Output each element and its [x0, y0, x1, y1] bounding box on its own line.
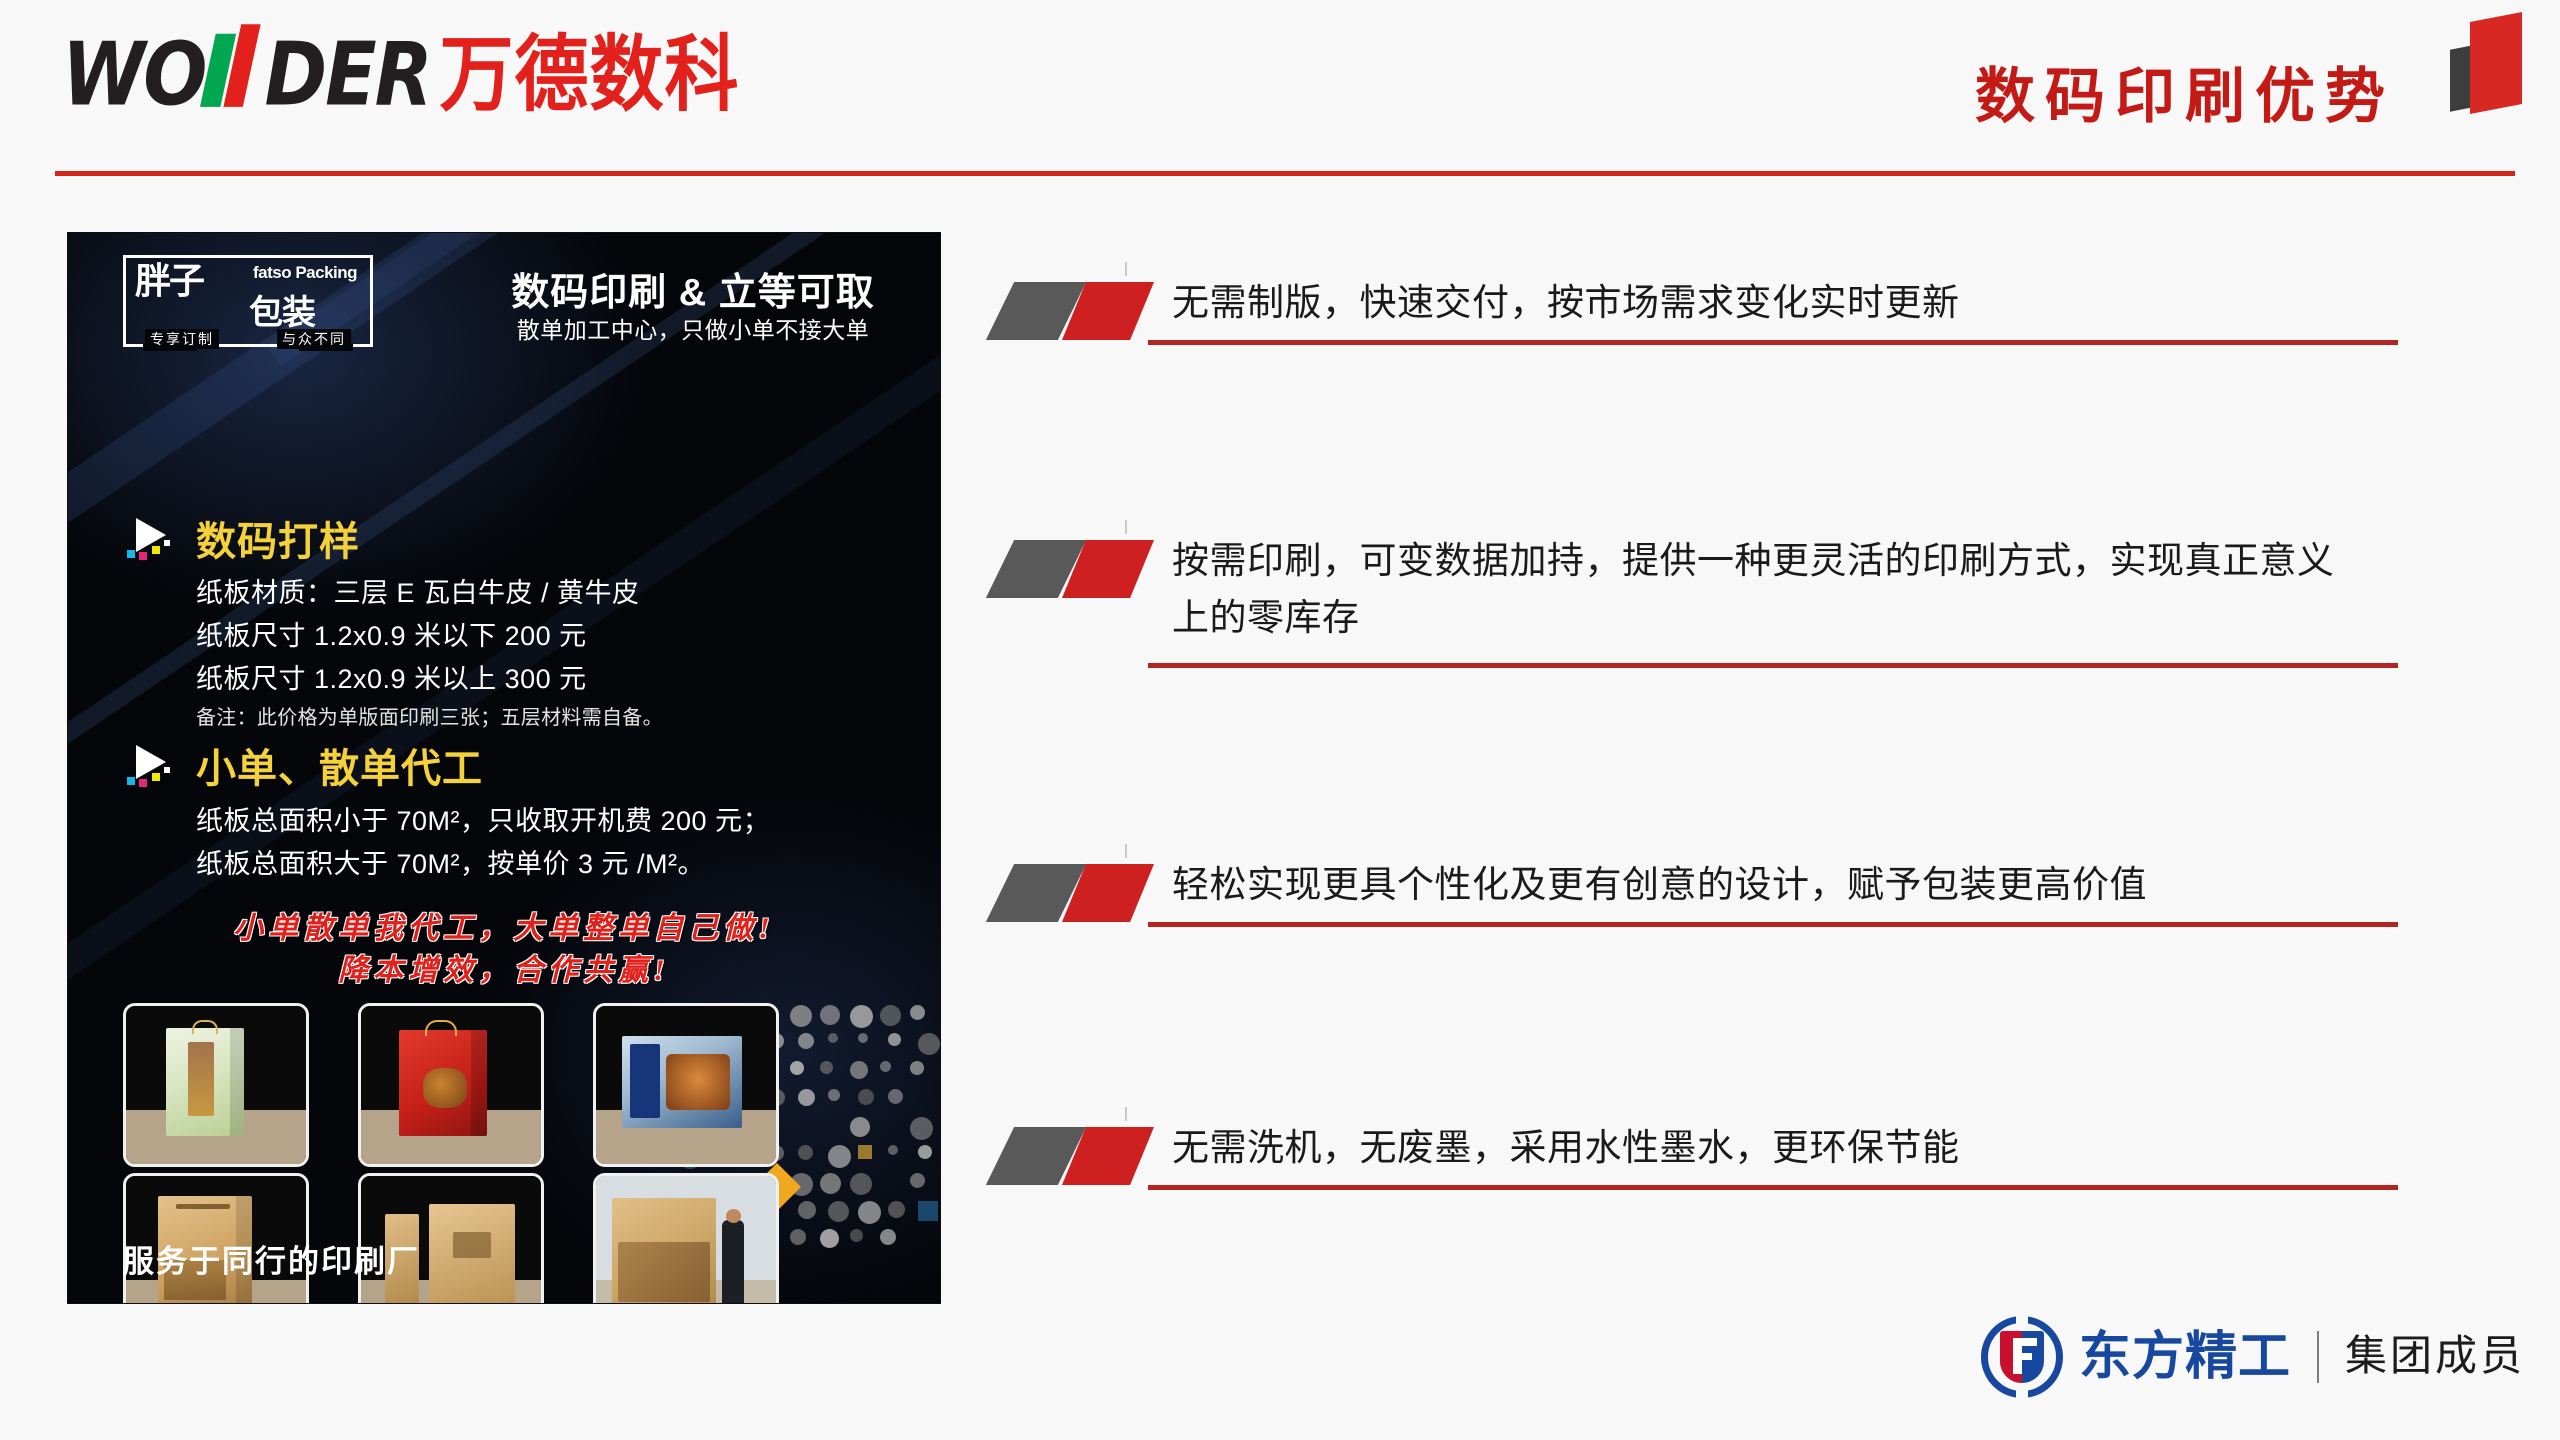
poster-dot: [820, 1005, 840, 1025]
page-title: 数码印刷优势: [1975, 48, 2395, 135]
poster-section-title-2: 小单、散单代工: [196, 736, 483, 794]
advantage-tick-3: [1125, 844, 1127, 858]
poster-dot: [888, 1033, 901, 1046]
poster-section-line-1-1: 纸板材质：三层 E 瓦白牛皮 / 黄牛皮: [196, 571, 640, 610]
arrow-dot-yellow-2: [152, 773, 160, 781]
wonder-logo-latin-part2: DER: [265, 31, 431, 118]
advantage-rule-4: [1148, 1185, 2398, 1190]
advantage-text-4: 无需洗机，无废墨，采用水性墨水，更环保节能: [1172, 1119, 2352, 1176]
advantage-marker-icon-1: [1000, 280, 1170, 342]
photo-box-1-handle: [192, 1020, 218, 1034]
shield-ring-gap-top: [2016, 1314, 2028, 1326]
poster-headline: 数码印刷 & 立等可取: [468, 261, 918, 316]
poster-dot: [910, 1061, 924, 1075]
poster-section-line-2-1: 纸板总面积小于 70M²，只收取开机费 200 元；: [196, 799, 770, 838]
corner-decoration-icon: [2450, 5, 2545, 110]
arrow-dot-white-1: [164, 540, 170, 546]
advantages-list: 无需制版，快速交付，按市场需求变化实时更新 按需印刷，可变数据加持，提供一种更灵…: [1000, 280, 2420, 1290]
wonder-logo-latin: WODER: [62, 31, 431, 118]
fatso-logo-en: fatso Packing: [253, 263, 357, 283]
wonder-n-mark-icon: [205, 31, 264, 104]
arrow-dot-cyan-1: [127, 550, 135, 558]
poster-dot: [880, 1005, 901, 1026]
poster-dot: [820, 1061, 833, 1074]
header-divider: [55, 171, 2515, 176]
shield-f-mid-bar: [2013, 1353, 2032, 1360]
page-header: WODER 万德数科 数码印刷优势: [0, 0, 2560, 180]
photo-box-5-label: [453, 1232, 491, 1258]
poster-dot: [858, 1201, 881, 1224]
photo-person-head-6: [726, 1209, 741, 1223]
promo-poster-image: 胖子 fatso Packing 包装 专享订制 与众不同 数码印刷 & 立等可…: [68, 233, 940, 1303]
advantage-rule-2: [1148, 663, 2398, 668]
advantage-rule-3: [1148, 922, 2398, 927]
poster-dot: [888, 1089, 903, 1104]
product-photo-3: [593, 1003, 779, 1167]
advantage-tick-4: [1125, 1107, 1127, 1121]
poster-dot: [850, 1061, 868, 1079]
footer-separator: [2317, 1331, 2319, 1383]
poster-dot: [858, 1089, 874, 1105]
photo-box-3-panel: [630, 1044, 660, 1118]
shield-ring-gap-bottom: [2016, 1388, 2028, 1400]
poster-section-title-1: 数码打样: [196, 509, 360, 567]
poster-dot: [888, 1201, 905, 1218]
arrow-dot-magenta-2: [139, 779, 147, 787]
poster-dot: [798, 1089, 815, 1106]
photo-box-2-handle: [425, 1020, 457, 1036]
poster-subline: 散单加工中心，只做小单不接大单: [468, 311, 918, 345]
poster-dot: [918, 1033, 940, 1055]
poster-section-line-1-2: 纸板尺寸 1.2x0.9 米以下 200 元: [196, 614, 587, 653]
poster-dot: [918, 1201, 938, 1221]
poster-dot: [910, 1173, 925, 1188]
product-photo-6: [593, 1173, 779, 1303]
fatso-packing-logo: 胖子 fatso Packing 包装 专享订制 与众不同: [123, 255, 373, 347]
photo-box-4-slot: [176, 1204, 230, 1209]
arrow-dot-cyan-2: [127, 777, 135, 785]
poster-section-line-1-3: 纸板尺寸 1.2x0.9 米以上 300 元: [196, 657, 587, 696]
advantage-marker-icon-2: [1000, 538, 1170, 600]
poster-dot: [888, 1145, 898, 1155]
poster-dot: [828, 1089, 840, 1101]
arrow-dot-yellow-1: [152, 546, 160, 554]
poster-dot: [880, 1229, 896, 1245]
product-photo-2: [358, 1003, 544, 1167]
advantage-marker-icon-4: [1000, 1125, 1170, 1187]
poster-dot: [858, 1033, 868, 1043]
photo-box-2-food: [423, 1068, 467, 1108]
photo-scene-2: [361, 1006, 541, 1164]
poster-dot: [880, 1061, 891, 1072]
footer-company-name: 东方精工: [2079, 1331, 2291, 1383]
photo-scene-3: [596, 1006, 776, 1164]
dongfang-shield-icon: [1981, 1316, 2063, 1398]
photo-scene-1: [126, 1006, 306, 1164]
advantage-tick-2: [1125, 520, 1127, 534]
poster-dot: [828, 1145, 851, 1168]
poster-dot: [790, 1229, 806, 1245]
photo-box-6-art: [618, 1242, 710, 1302]
advantage-text-3: 轻松实现更具个性化及更有创意的设计，赋予包装更高价值: [1172, 856, 2352, 913]
poster-header: 胖子 fatso Packing 包装 专享订制 与众不同 数码印刷 & 立等可…: [68, 233, 940, 363]
poster-dot: [850, 1173, 872, 1195]
photo-box-1-label: [188, 1042, 214, 1116]
section-arrow-icon-1: [126, 518, 184, 570]
corner-deco-red-shape: [2470, 12, 2522, 114]
arrow-head-2: [136, 745, 166, 779]
fatso-logo-cn-left: 胖子: [135, 263, 203, 301]
photo-box-3-food: [666, 1054, 730, 1110]
advantage-text-2: 按需印刷，可变数据加持，提供一种更灵活的印刷方式，实现真正意义上的零库存: [1172, 532, 2352, 647]
advantage-marker-icon-3: [1000, 862, 1170, 924]
shield-f-top-bar: [2013, 1338, 2037, 1346]
photo-scene-6: [596, 1176, 776, 1303]
poster-dot: [828, 1201, 849, 1222]
poster-dot: [828, 1033, 838, 1043]
wonder-logo-chinese: 万德数科: [440, 34, 740, 117]
poster-dot: [798, 1201, 816, 1219]
poster-dot: [790, 1061, 804, 1075]
section-arrow-icon-2: [126, 745, 184, 797]
advantage-rule-1: [1148, 340, 2398, 345]
poster-dot: [858, 1145, 872, 1159]
poster-dot: [850, 1229, 863, 1242]
poster-caption: 服务于同行的印刷厂: [123, 1236, 420, 1281]
fatso-logo-cn-right: 包装: [249, 285, 315, 334]
advantage-tick-1: [1125, 262, 1127, 276]
poster-dot: [918, 1145, 932, 1159]
footer-member-label: 集团成员: [2345, 1336, 2525, 1378]
poster-dot: [820, 1173, 841, 1194]
poster-dot: [850, 1117, 870, 1137]
poster-dot: [820, 1229, 839, 1248]
poster-slogan-line-1: 小单散单我代工，大单整单自己做!: [68, 903, 940, 947]
wonder-logo: WODER 万德数科: [62, 38, 740, 112]
poster-section-line-2-2: 纸板总面积大于 70M²，按单价 3 元 /M²。: [196, 842, 705, 881]
product-photo-1: [123, 1003, 309, 1167]
arrow-dot-magenta-1: [139, 552, 147, 560]
poster-dot: [910, 1117, 933, 1140]
wonder-logo-latin-part1: WO: [62, 31, 205, 118]
poster-dot: [910, 1005, 925, 1020]
arrow-head-1: [136, 518, 166, 552]
fatso-logo-sub-left: 专享订制: [145, 329, 219, 349]
poster-dot: [850, 1005, 873, 1028]
poster-dot: [798, 1145, 813, 1160]
poster-slogan-line-2: 降本增效，合作共赢!: [68, 945, 940, 989]
footer-brand: 东方精工 集团成员: [1981, 1314, 2525, 1400]
poster-dot: [798, 1033, 814, 1049]
arrow-dot-white-2: [164, 767, 170, 773]
poster-section-note-1: 备注：此价格为单版面印刷三张；五层材料需自备。: [196, 701, 663, 730]
advantage-text-1: 无需制版，快速交付，按市场需求变化实时更新: [1172, 274, 2352, 331]
photo-person-6: [722, 1220, 744, 1303]
poster-dot: [790, 1005, 812, 1027]
fatso-logo-sub-right: 与众不同: [277, 329, 351, 349]
